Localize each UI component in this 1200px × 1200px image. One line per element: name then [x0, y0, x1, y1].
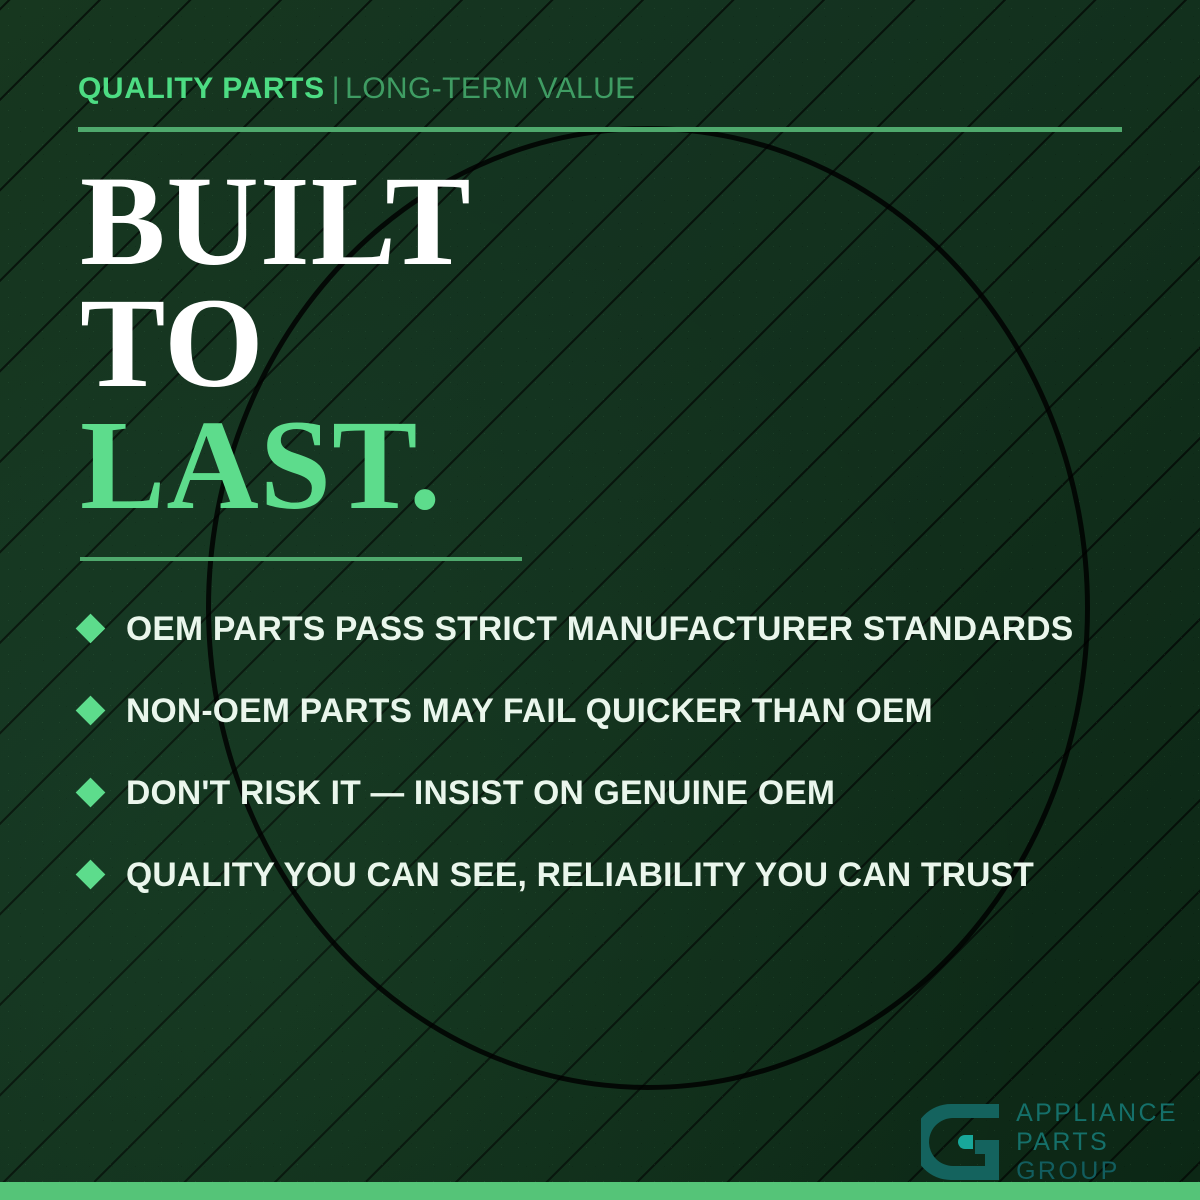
list-item-label: DON'T RISK IT — INSIST ON GENUINE OEM	[126, 776, 835, 810]
headline-line-2: TO	[80, 282, 472, 404]
eyebrow-heading: QUALITY PARTS|LONG-TERM VALUE	[78, 74, 636, 104]
eyebrow-light-label: LONG-TERM VALUE	[345, 72, 636, 105]
list-item: DON'T RISK IT — INSIST ON GENUINE OEM	[80, 752, 1150, 834]
headline-line-3: LAST.	[80, 404, 472, 526]
diamond-bullet-icon	[76, 777, 106, 807]
page-title: BUILT TO LAST.	[80, 160, 472, 527]
bottom-accent-bar	[0, 1182, 1200, 1200]
logo-word-appliance: APPLIANCE	[1016, 1101, 1178, 1126]
list-item-label: QUALITY YOU CAN SEE, RELIABILITY YOU CAN…	[126, 858, 1034, 892]
list-item: OEM PARTS PASS STRICT MANUFACTURER STAND…	[80, 588, 1150, 670]
logo-word-parts: PARTS	[1016, 1130, 1178, 1155]
diamond-bullet-icon	[76, 695, 106, 725]
list-item: NON-OEM PARTS MAY FAIL QUICKER THAN OEM	[80, 670, 1150, 752]
headline-line-1: BUILT	[80, 160, 472, 282]
poster-canvas: QUALITY PARTS|LONG-TERM VALUE BUILT TO L…	[0, 0, 1200, 1200]
g-monogram-icon	[921, 1100, 1005, 1184]
brand-logo-wordmark: APPLIANCE PARTS GROUP	[1016, 1101, 1178, 1184]
top-divider-rule	[78, 127, 1122, 132]
list-item-label: NON-OEM PARTS MAY FAIL QUICKER THAN OEM	[126, 694, 933, 728]
brand-logo: APPLIANCE PARTS GROUP	[921, 1100, 1178, 1184]
diamond-bullet-icon	[76, 613, 106, 643]
list-item-label: OEM PARTS PASS STRICT MANUFACTURER STAND…	[126, 612, 1073, 646]
eyebrow-strong-label: QUALITY PARTS	[78, 72, 325, 105]
list-item: QUALITY YOU CAN SEE, RELIABILITY YOU CAN…	[80, 834, 1150, 916]
diamond-bullet-icon	[76, 859, 106, 889]
benefits-list: OEM PARTS PASS STRICT MANUFACTURER STAND…	[80, 588, 1150, 916]
headline-underline-rule	[80, 557, 522, 561]
eyebrow-separator: |	[332, 72, 340, 105]
logo-word-group: GROUP	[1016, 1159, 1178, 1184]
